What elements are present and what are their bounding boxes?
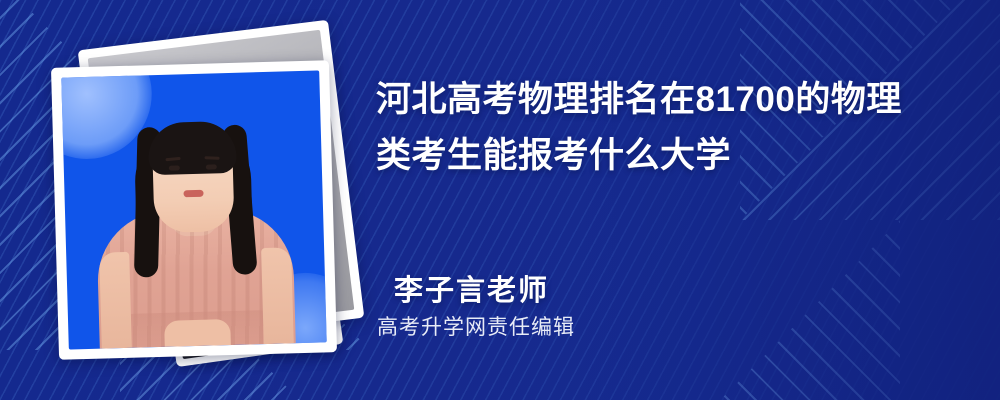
portrait-eye-left bbox=[169, 165, 180, 170]
portrait-arm-left bbox=[99, 252, 132, 349]
portrait-avatar-icon bbox=[61, 70, 326, 349]
portrait-brow-right bbox=[204, 156, 219, 160]
portrait-hair-front bbox=[148, 120, 237, 174]
author-name: 李子言老师 bbox=[394, 272, 814, 310]
portrait-photo bbox=[61, 70, 326, 349]
portrait-eye-right bbox=[206, 164, 217, 169]
photo-frame-stack bbox=[55, 28, 355, 358]
banner-title-line-1: 河北高考物理排名在81700的物理 bbox=[376, 72, 976, 128]
author-byline: 李子言老师 高考升学网责任编辑 bbox=[394, 272, 814, 343]
portrait-mouth bbox=[183, 189, 203, 197]
portrait-hands bbox=[164, 319, 231, 347]
banner-title-line-2: 类考生能报考什么大学 bbox=[376, 128, 976, 184]
portrait-arm-right bbox=[261, 247, 294, 344]
banner-title: 河北高考物理排名在81700的物理 类考生能报考什么大学 bbox=[376, 72, 976, 184]
photo-frame-front bbox=[51, 60, 337, 360]
article-banner: 河北高考物理排名在81700的物理 类考生能报考什么大学 李子言老师 高考升学网… bbox=[0, 0, 1000, 400]
author-role: 高考升学网责任编辑 bbox=[377, 313, 814, 343]
